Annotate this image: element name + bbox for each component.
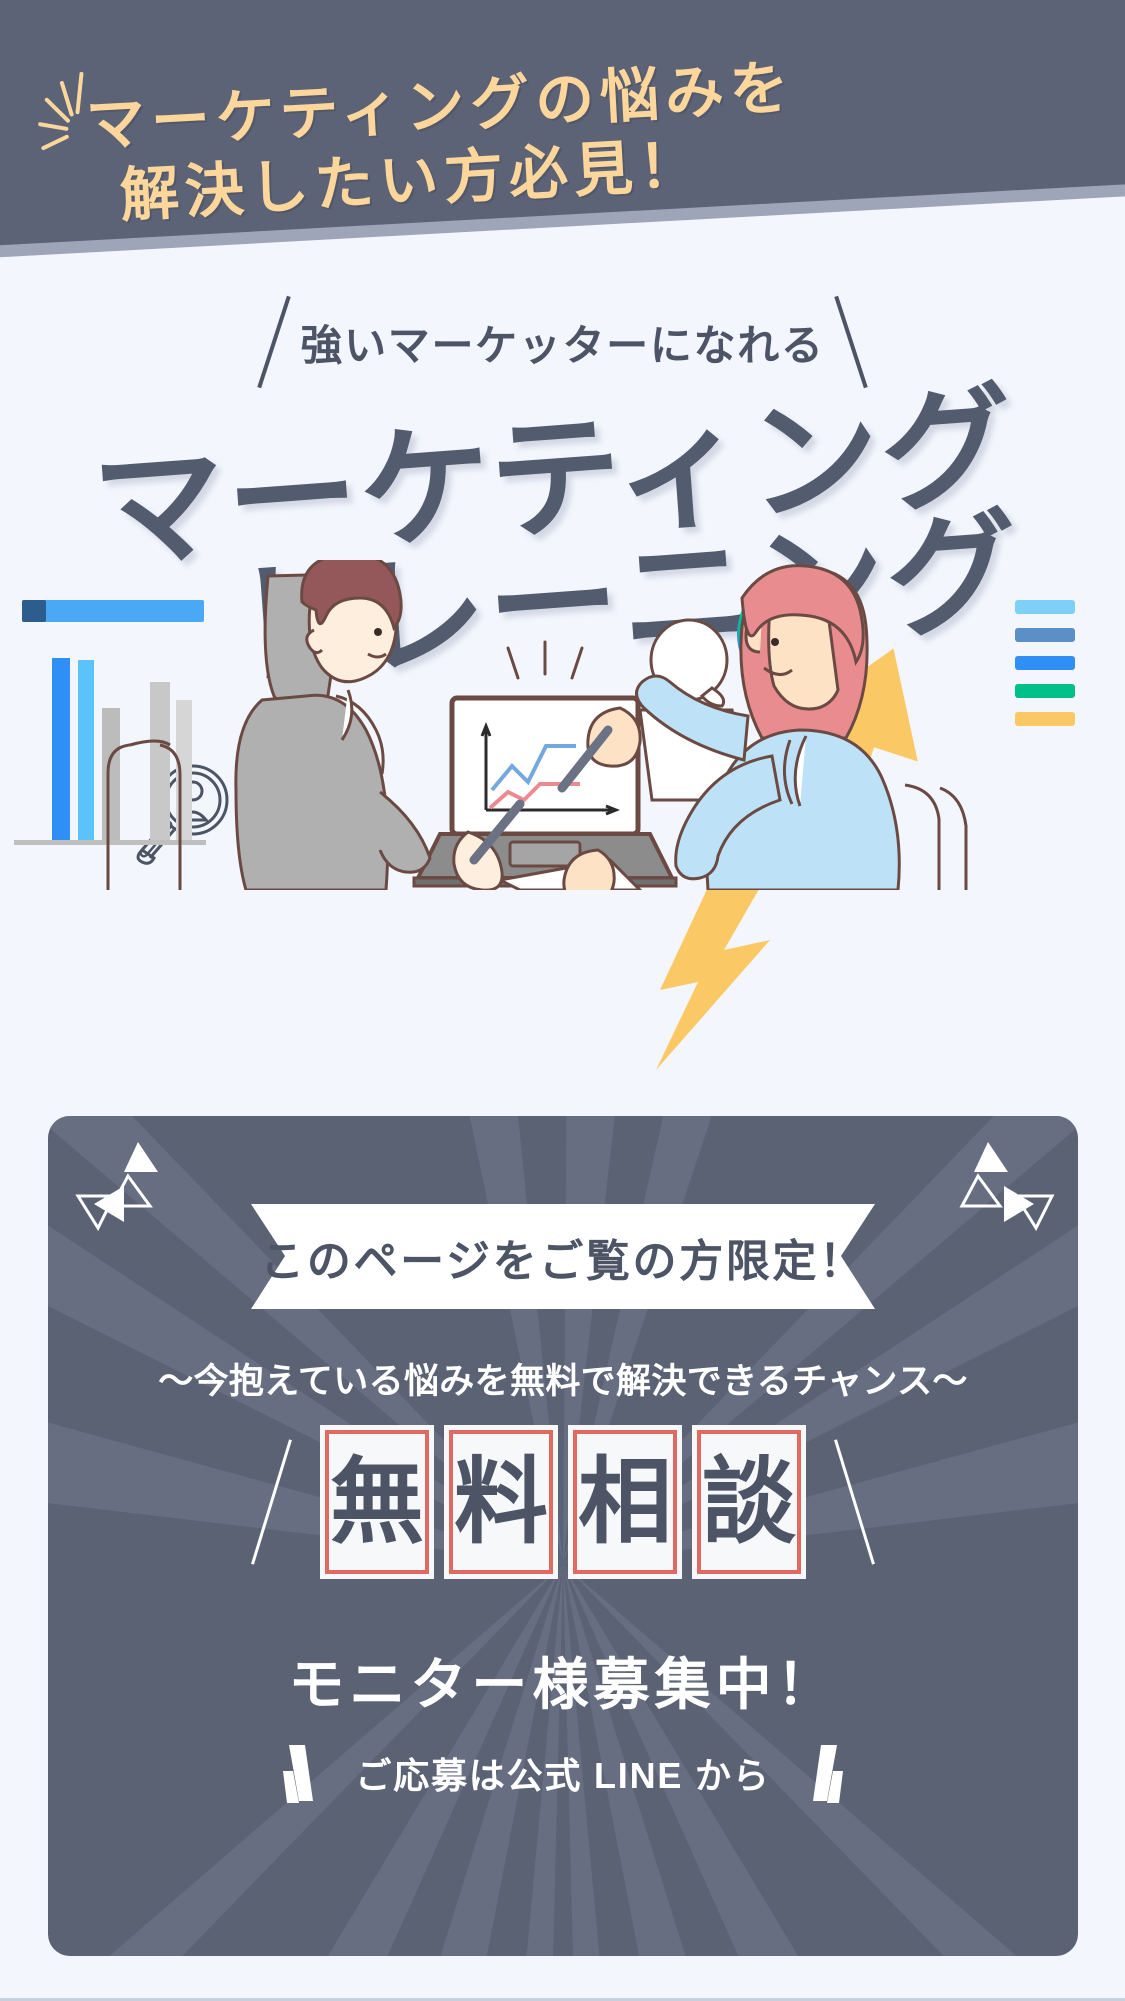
slash-left-decoration [258,296,291,389]
offer-lead-text: 〜今抱えている悩みを無料で解決できるチャンス〜 [48,1353,1078,1404]
kanji-slash-left [251,1439,292,1564]
limited-ribbon-text: このページをご覧の方限定！ [251,1204,875,1309]
kanji-box-3: 相 [573,1430,677,1574]
top-banner: マーケティングの悩みを 解決したい方必見！ [0,0,1125,290]
bar-chart-graphic [14,658,206,845]
donut-legend [1015,600,1075,726]
monitor-recruiting-text: モニター様募集中！ [48,1640,1078,1721]
emphasis-lines [508,642,582,678]
confetti-left-icon [66,1124,226,1254]
illustration-scene [0,560,1125,890]
progress-bar-graphic [22,600,204,622]
top-banner-text-group: マーケティングの悩みを 解決したい方必見！ [0,0,1125,290]
confetti-right-icon [900,1124,1060,1254]
meeting-illustration [0,560,1125,890]
line-cta-row[interactable]: ご応募は公式 LINE から [48,1741,1078,1805]
limited-ribbon: このページをご覧の方限定！ [251,1204,875,1309]
kanji-box-2: 料 [449,1430,553,1574]
double-slash-left-icon [283,1741,329,1805]
free-consultation-kanji-row: 無 料 相 談 [48,1430,1078,1574]
kanji-slash-right [834,1439,875,1564]
offer-card: このページをご覧の方限定！ 〜今抱えている悩みを無料で解決できるチャンス〜 無 … [48,1116,1078,1956]
kanji-box-4: 談 [697,1430,801,1574]
double-slash-right-icon [797,1741,843,1805]
lightning-bolt-icon [620,870,830,1070]
line-cta-text: ご応募は公式 LINE から [355,1747,770,1799]
kanji-box-1: 無 [325,1430,429,1574]
